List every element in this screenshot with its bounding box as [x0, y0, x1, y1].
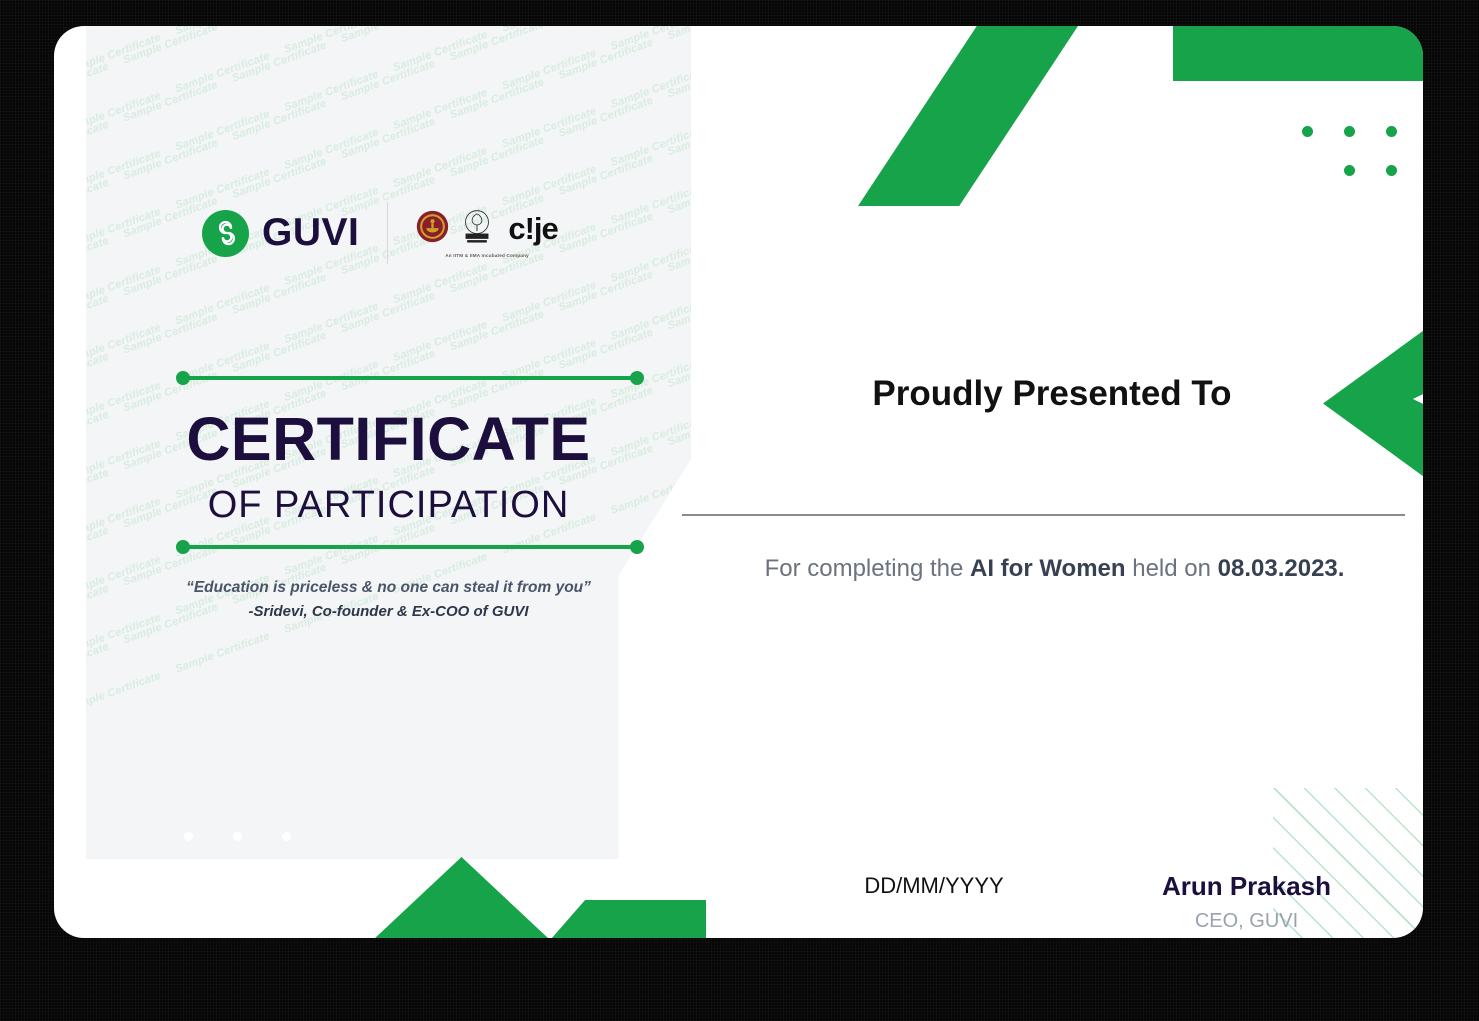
course-name: AI for Women	[970, 555, 1126, 582]
signer-name: Arun Prakash	[1104, 871, 1389, 902]
panel-dots-decoration	[184, 832, 291, 841]
logo-row: GUVI	[202, 202, 558, 264]
certificate-card: Sample Certificate Sample Certificate Sa…	[54, 26, 1423, 938]
green-diagonal-stripe	[858, 26, 1078, 206]
dot-grid-row	[1344, 165, 1423, 176]
logo-divider	[387, 202, 388, 264]
dot-icon	[282, 832, 291, 841]
founder-quote-author: -Sridevi, Co-founder & Ex-COO of GUVI	[86, 603, 691, 620]
event-date: 08.03.2023.	[1218, 555, 1345, 582]
signer-title: CEO, GUVI	[1104, 910, 1389, 933]
date-placeholder: DD/MM/YYYY	[834, 873, 1034, 899]
dot-grid-row	[1302, 126, 1423, 137]
dot-icon	[1344, 126, 1355, 137]
iim-ahmedabad-tree-icon	[458, 209, 496, 250]
green-triangle-decoration	[374, 857, 549, 938]
guvi-logo: GUVI	[202, 210, 359, 257]
completion-statement: For completing the AI for Women held on …	[682, 555, 1423, 583]
recipient-name-line	[682, 514, 1405, 516]
dot-icon	[184, 832, 193, 841]
certificate-subtitle: OF PARTICIPATION	[86, 484, 691, 527]
dot-icon	[1302, 126, 1313, 137]
dot-grid-decoration	[1302, 126, 1423, 176]
presented-to-heading: Proudly Presented To	[682, 374, 1422, 414]
ciie-wordmark: c!je	[508, 211, 557, 247]
certificate-title: CERTIFICATE	[86, 404, 691, 474]
iim-seal-icon	[416, 210, 449, 248]
dot-icon	[233, 832, 242, 841]
dot-icon	[1386, 165, 1397, 176]
founder-quote: “Education is priceless & no one can ste…	[86, 579, 691, 597]
dot-icon	[1386, 126, 1397, 137]
guvi-wordmark: GUVI	[262, 211, 359, 255]
green-trapezoid-decoration	[551, 900, 706, 938]
title-rule-bottom	[181, 545, 639, 549]
dot-icon	[1344, 165, 1355, 176]
guvi-g-monogram-icon	[202, 210, 249, 257]
completion-middle: held on	[1126, 555, 1218, 582]
title-rule-top	[181, 376, 639, 380]
partner-caption: An IITM & IIMA Incubated Company	[445, 253, 529, 258]
partner-logos: c!je An IITM & IIMA Incubated Company	[416, 209, 557, 258]
partner-logo-row: c!je	[416, 209, 557, 250]
green-top-bar	[1173, 26, 1423, 81]
completion-prefix: For completing the	[765, 555, 970, 582]
